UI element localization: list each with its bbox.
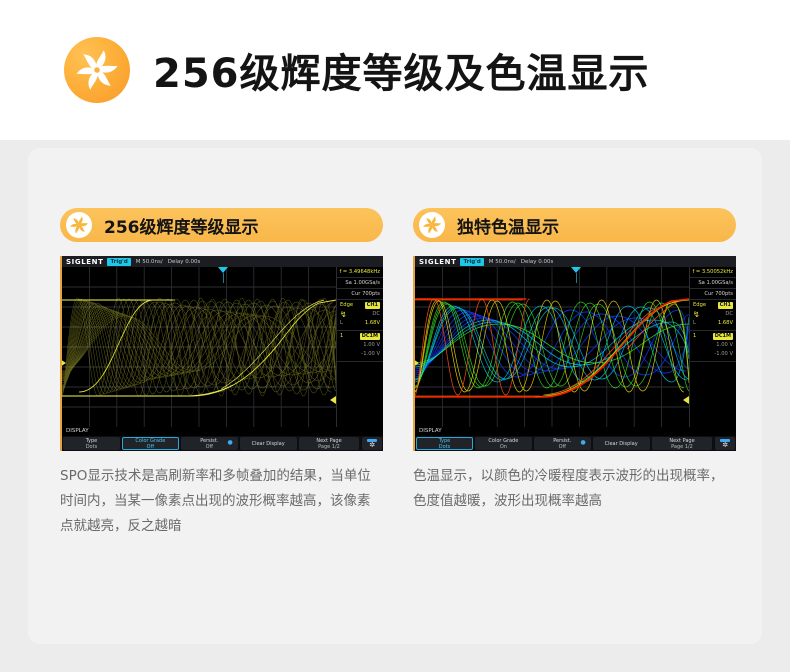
panel-caption-color-temp: 色温显示，以颜色的冷暖程度表示波形的出现概率，色度值越暖，波形出现概率越高 bbox=[413, 464, 736, 514]
trigger-slope-icon: ↯ bbox=[693, 311, 700, 319]
trigger-position-line bbox=[576, 273, 577, 283]
frequency-readout: f = 3.50052kHz bbox=[690, 267, 736, 278]
channel-info-section: 1 DC1M 1.00 V -1.00 V bbox=[337, 331, 383, 362]
channel-info-section: 1 DC1M 1.00 V -1.00 V bbox=[690, 331, 736, 362]
channel-number-label: 1 bbox=[693, 332, 696, 341]
panel-pill-color-temp: 独特色温显示 bbox=[413, 208, 736, 242]
channel-number-label: 1 bbox=[340, 332, 343, 341]
content-card: 256级辉度等级显示 SIGLENT Trig'd M 50.0ns/ Dela… bbox=[28, 148, 762, 644]
trigger-position-line bbox=[223, 273, 224, 283]
page-banner: 256级辉度等级及色温显示 bbox=[0, 0, 790, 140]
channel-scale-readout: 1.00 V bbox=[363, 341, 380, 350]
scope-info-panel: f = 3.50052kHz Sa 1.00GSa/s Cur 700pts E… bbox=[689, 267, 736, 427]
oscilloscope-screenshot-intensity: SIGLENT Trig'd M 50.0ns/ Delay 0.00s bbox=[60, 256, 383, 451]
trigger-coupling-label: DC bbox=[725, 310, 733, 319]
channel-coupling-tag: DC1M bbox=[713, 333, 733, 340]
delay-label: Delay 0.00s bbox=[168, 259, 201, 265]
timebase-label: M 50.0ns/ bbox=[489, 259, 516, 265]
scope-menu-title: DISPLAY bbox=[62, 427, 383, 436]
softkey-type[interactable]: Type Dots bbox=[416, 437, 473, 450]
softkey-value: On bbox=[500, 444, 507, 450]
oscilloscope-screenshot-color-temp: SIGLENT Trig'd M 50.0ns/ Delay 0.00s bbox=[413, 256, 736, 451]
softkey-value: Off bbox=[559, 444, 566, 450]
panel-pill-label: 独特色温显示 bbox=[457, 213, 559, 238]
memory-depth-readout: Cur 700pts bbox=[690, 289, 736, 300]
waveform-grid-area bbox=[415, 267, 689, 427]
softkey-persist[interactable]: ● Persist. Off bbox=[181, 437, 238, 450]
siglent-logo: SIGLENT bbox=[66, 258, 103, 266]
scope-info-panel: f = 3.49648kHz Sa 1.00GSa/s Cur 700pts E… bbox=[336, 267, 383, 427]
delay-label: Delay 0.00s bbox=[521, 259, 554, 265]
waveform-grid-area bbox=[62, 267, 336, 427]
sample-rate-readout: Sa 1.00GSa/s bbox=[690, 278, 736, 289]
scope-topbar: SIGLENT Trig'd M 50.0ns/ Delay 0.00s bbox=[415, 256, 736, 267]
softkey-label: Clear Display bbox=[252, 441, 285, 447]
panel-intensity-grading: 256级辉度等级显示 SIGLENT Trig'd M 50.0ns/ Dela… bbox=[28, 148, 395, 644]
channel-offset-readout: -1.00 V bbox=[714, 350, 733, 359]
trigger-source-tag: CH1 bbox=[718, 302, 733, 309]
panel-pill-intensity: 256级辉度等级显示 bbox=[60, 208, 383, 242]
swirl-fan-icon bbox=[66, 212, 92, 238]
softkey-clear-display[interactable]: Clear Display bbox=[240, 437, 297, 450]
panel-pill-label: 256级辉度等级显示 bbox=[104, 213, 259, 238]
adjustable-dot-icon: ● bbox=[580, 440, 585, 446]
channel-1-ground-marker bbox=[60, 359, 66, 367]
channel-offset-readout: -1.00 V bbox=[361, 350, 380, 359]
softkey-label: Clear Display bbox=[605, 441, 638, 447]
channel-coupling-tag: DC1M bbox=[360, 333, 380, 340]
siglent-logo: SIGLENT bbox=[419, 258, 456, 266]
softkey-next-page[interactable]: Next Page Page 1/2 bbox=[299, 437, 360, 450]
menu-indicator-icon[interactable]: ✲ bbox=[715, 437, 735, 450]
softkey-type[interactable]: Type Dots bbox=[63, 437, 120, 450]
scope-topbar: SIGLENT Trig'd M 50.0ns/ Delay 0.00s bbox=[62, 256, 383, 267]
softkey-value: Off bbox=[206, 444, 213, 450]
panel-color-temperature: 独特色温显示 SIGLENT Trig'd M 50.0ns/ Delay 0.… bbox=[395, 148, 762, 644]
trigger-source-tag: CH1 bbox=[365, 302, 380, 309]
softkey-value: Page 1/2 bbox=[318, 444, 340, 450]
star-icon: ✲ bbox=[369, 442, 375, 449]
trigger-slope-label: L bbox=[340, 319, 343, 328]
softkey-color-grade[interactable]: Color Grade On bbox=[475, 437, 532, 450]
trigger-info-section: Edge CH1 ↯ DC L 1.68V bbox=[690, 300, 736, 331]
sample-rate-readout: Sa 1.00GSa/s bbox=[337, 278, 383, 289]
trigger-type-label: Edge bbox=[340, 301, 353, 310]
trigger-slope-label: L bbox=[693, 319, 696, 328]
swirl-fan-icon bbox=[419, 212, 445, 238]
scope-softkey-menu: Type Dots Color Grade Off ● Persist. Off bbox=[62, 436, 383, 451]
trigger-level-readout: 1.68V bbox=[365, 319, 380, 328]
trigger-slope-icon: ↯ bbox=[340, 311, 347, 319]
trigger-coupling-label: DC bbox=[372, 310, 380, 319]
softkey-value: Off bbox=[147, 444, 154, 450]
softkey-persist[interactable]: ● Persist. Off bbox=[534, 437, 591, 450]
softkey-clear-display[interactable]: Clear Display bbox=[593, 437, 650, 450]
star-icon: ✲ bbox=[722, 442, 728, 449]
swirl-fan-icon bbox=[64, 37, 130, 103]
trigger-info-section: Edge CH1 ↯ DC L 1.68V bbox=[337, 300, 383, 331]
panel-caption-intensity: SPO显示技术是高刷新率和多帧叠加的结果，当单位时间内，当某一像素点出现的波形概… bbox=[60, 464, 383, 539]
trigger-level-readout: 1.68V bbox=[718, 319, 733, 328]
page-title: 256级辉度等级及色温显示 bbox=[153, 41, 650, 99]
timebase-label: M 50.0ns/ bbox=[136, 259, 163, 265]
memory-depth-readout: Cur 700pts bbox=[337, 289, 383, 300]
softkey-value: Dots bbox=[86, 444, 97, 450]
channel-scale-readout: 1.00 V bbox=[716, 341, 733, 350]
softkey-value: Page 1/2 bbox=[671, 444, 693, 450]
channel-1-ground-marker bbox=[413, 359, 419, 367]
softkey-color-grade[interactable]: Color Grade Off bbox=[122, 437, 179, 450]
adjustable-dot-icon: ● bbox=[227, 440, 232, 446]
scope-softkey-menu: Type Dots Color Grade On ● Persist. Off bbox=[415, 436, 736, 451]
trigger-status-badge: Trig'd bbox=[460, 258, 483, 266]
softkey-next-page[interactable]: Next Page Page 1/2 bbox=[652, 437, 713, 450]
trigger-status-badge: Trig'd bbox=[107, 258, 130, 266]
softkey-value: Dots bbox=[439, 444, 450, 450]
trigger-type-label: Edge bbox=[693, 301, 706, 310]
frequency-readout: f = 3.49648kHz bbox=[337, 267, 383, 278]
menu-indicator-icon[interactable]: ✲ bbox=[362, 437, 382, 450]
scope-menu-title: DISPLAY bbox=[415, 427, 736, 436]
